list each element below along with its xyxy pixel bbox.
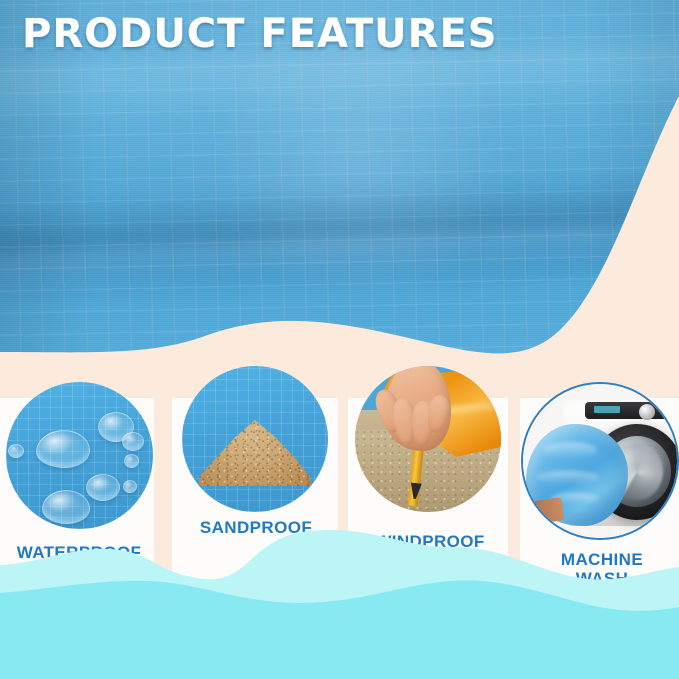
feature-image-machine-wash	[521, 382, 679, 540]
fabric-fold	[544, 442, 597, 458]
feature-image-windproof	[355, 366, 501, 512]
feature-image-sandproof	[182, 366, 328, 512]
water-droplet	[36, 430, 90, 468]
water-droplet	[86, 474, 120, 501]
water-droplet	[123, 480, 137, 493]
bottom-wave-decoration	[0, 519, 679, 679]
water-droplet	[122, 432, 144, 451]
product-features-infographic: PRODUCT FEATURES	[0, 0, 679, 679]
fabric-fold	[536, 471, 599, 484]
feature-image-waterproof	[6, 382, 153, 529]
page-title: PRODUCT FEATURES	[22, 14, 498, 54]
water-droplet	[124, 454, 139, 468]
water-droplet	[8, 444, 24, 458]
washing-machine-display	[594, 406, 620, 413]
page-title-text: PRODUCT FEATURES	[22, 11, 498, 57]
